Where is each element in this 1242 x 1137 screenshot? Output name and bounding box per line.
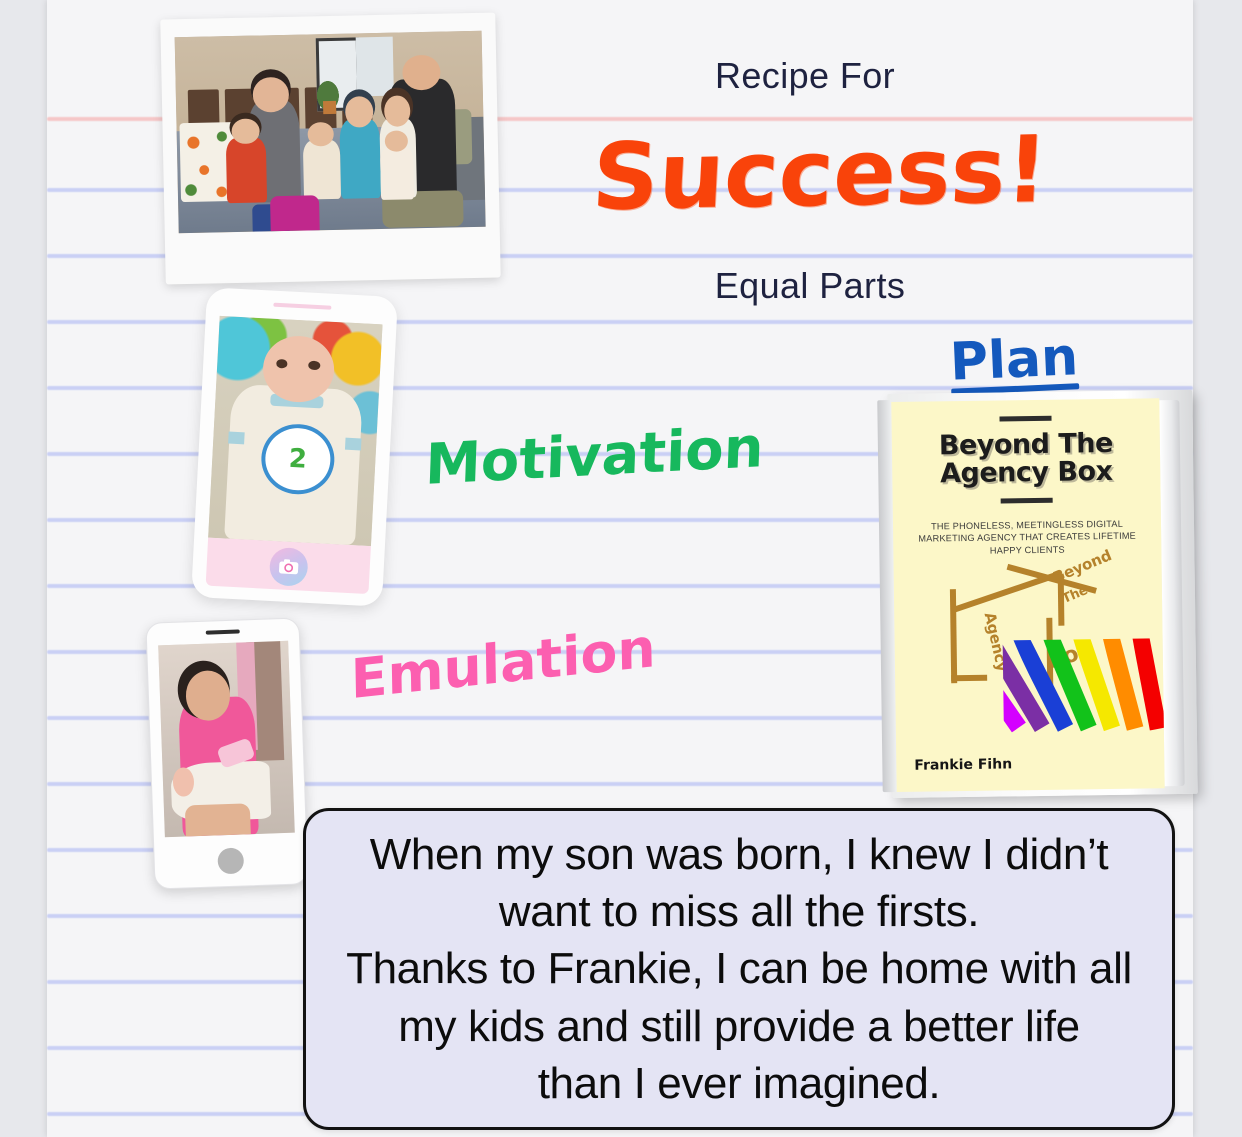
quote-line-5: than I ever imagined.	[538, 1059, 941, 1108]
family-photo-image	[175, 31, 486, 233]
heading-success: Success!	[557, 123, 1082, 224]
quote-line-4: my kids and still provide a better life	[398, 1002, 1079, 1051]
book-front-cover: Beyond The Agency Box THE PHONELESS, MEE…	[891, 398, 1164, 792]
testimonial-quote-text: When my son was born, I knew I didn’t wa…	[312, 826, 1166, 1112]
speaker-grill-icon	[206, 629, 240, 634]
phone-screen	[158, 641, 295, 837]
tablet-bottom-bar	[206, 538, 371, 594]
speaker-grill-icon	[273, 303, 331, 310]
book-divider-top	[999, 416, 1051, 422]
rainbow-graphic	[1003, 638, 1165, 733]
artwork-word-the: The	[1060, 583, 1090, 607]
quote-line-3: Thanks to Frankie, I can be home with al…	[346, 944, 1132, 993]
book-author: Frankie Fihn	[914, 756, 1012, 773]
book-divider-bottom	[1001, 497, 1053, 503]
slide-canvas: 2	[0, 0, 1242, 1137]
quote-line-2: want to miss all the firsts.	[499, 887, 979, 936]
heading-equal-parts: Equal Parts	[645, 265, 975, 307]
baby-photo-illustration: 2	[208, 316, 382, 546]
artwork-word-beyond: Beyond	[1050, 546, 1113, 586]
book-title-line2: Agency Box	[892, 458, 1160, 490]
family-photo-illustration	[175, 31, 486, 233]
label-plan: Plan	[949, 327, 1080, 395]
tablet-screen: 2	[208, 316, 382, 546]
home-button-icon[interactable]	[217, 847, 244, 874]
heading-recipe-for: Recipe For	[640, 55, 970, 97]
testimonial-quote-box: When my son was born, I knew I didn’t wa…	[303, 808, 1175, 1130]
label-plan-text: Plan	[949, 327, 1080, 393]
family-photo-polaroid	[160, 13, 500, 285]
book-cover-artwork: Beyond The Agency Box	[893, 550, 1163, 734]
baby-photo-tablet: 2	[191, 287, 398, 607]
quote-line-1: When my son was born, I knew I didn’t	[370, 830, 1108, 879]
sibling-feeding-baby-illustration	[158, 641, 295, 837]
book-cover-beyond-the-agency-box: Beyond The Agency Box THE PHONELESS, MEE…	[877, 390, 1198, 802]
book-title: Beyond The Agency Box	[892, 429, 1161, 489]
sibling-photo-phone	[145, 617, 308, 889]
camera-icon[interactable]	[268, 547, 308, 587]
